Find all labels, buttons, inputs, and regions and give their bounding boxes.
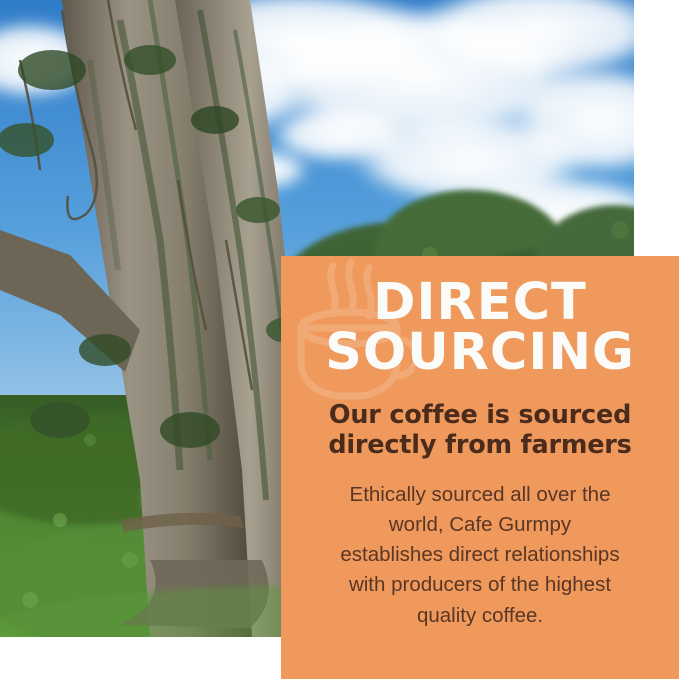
page-title: DIRECT SOURCING xyxy=(299,278,661,378)
panel-subheading: Our coffee is sourced directly from farm… xyxy=(299,400,661,460)
panel-content: DIRECT SOURCING Our coffee is sourced di… xyxy=(281,256,679,631)
panel-body-text: Ethically sourced all over the world, Ca… xyxy=(305,480,655,631)
direct-sourcing-panel: DIRECT SOURCING Our coffee is sourced di… xyxy=(281,256,679,679)
